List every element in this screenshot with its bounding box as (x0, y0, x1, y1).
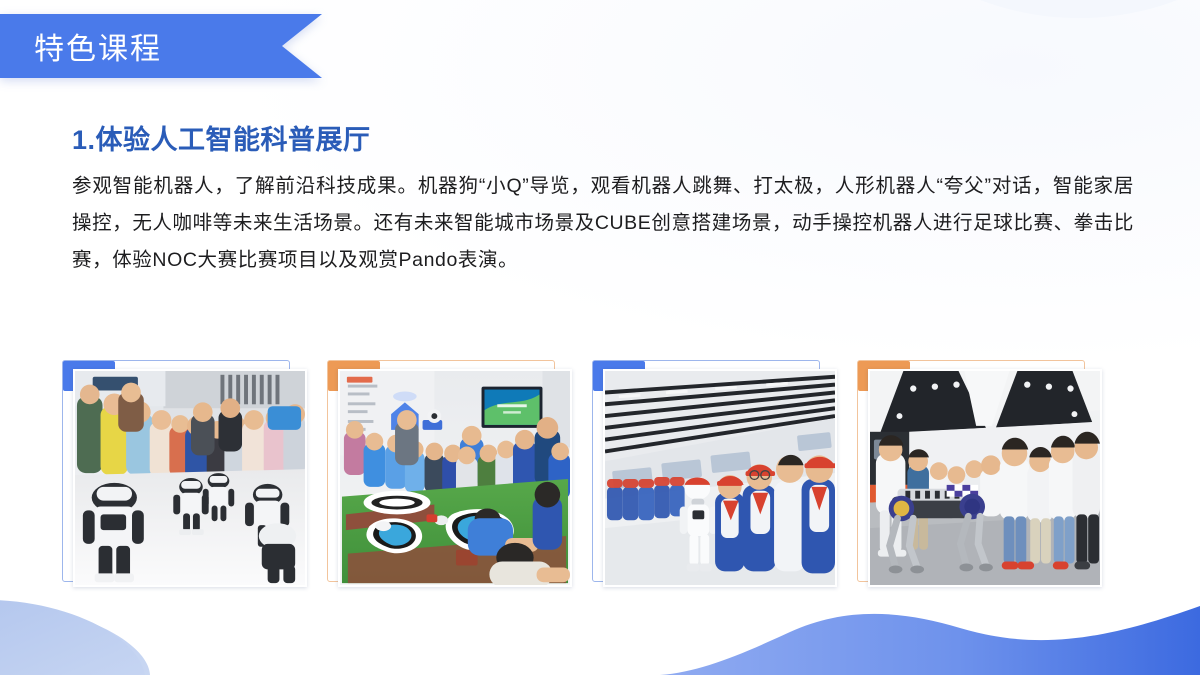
bottom-wave (660, 606, 1200, 675)
header-ribbon: 特色课程 (0, 14, 322, 78)
photo-card-2-image[interactable] (338, 369, 572, 587)
content-block: 1.体验人工智能科普展厅 参观智能机器人，了解前沿科技成果。机器狗“小Q”导览，… (72, 124, 1140, 279)
photo-card-2[interactable] (327, 360, 573, 588)
slide-root: 特色课程 1.体验人工智能科普展厅 参观智能机器人，了解前沿科技成果。机器狗“小… (0, 0, 1200, 675)
photo-card-3[interactable] (592, 360, 838, 588)
header-ribbon-label: 特色课程 (34, 14, 162, 78)
photo-card-1-image[interactable] (73, 369, 307, 587)
section-body-paragraph: 参观智能机器人，了解前沿科技成果。机器狗“小Q”导览，观看机器人跳舞、打太极，人… (72, 168, 1134, 279)
section-heading: 1.体验人工智能科普展厅 (72, 124, 1140, 156)
photo-card-1[interactable] (62, 360, 308, 588)
bottom-left-blob (0, 600, 145, 675)
photo-card-4-image[interactable] (868, 369, 1102, 587)
top-right-wash (980, 0, 1200, 18)
bottom-left-blob-b (0, 602, 150, 675)
photo-gallery (62, 360, 1142, 588)
photo-card-3-image[interactable] (603, 369, 837, 587)
photo-card-4[interactable] (857, 360, 1103, 588)
